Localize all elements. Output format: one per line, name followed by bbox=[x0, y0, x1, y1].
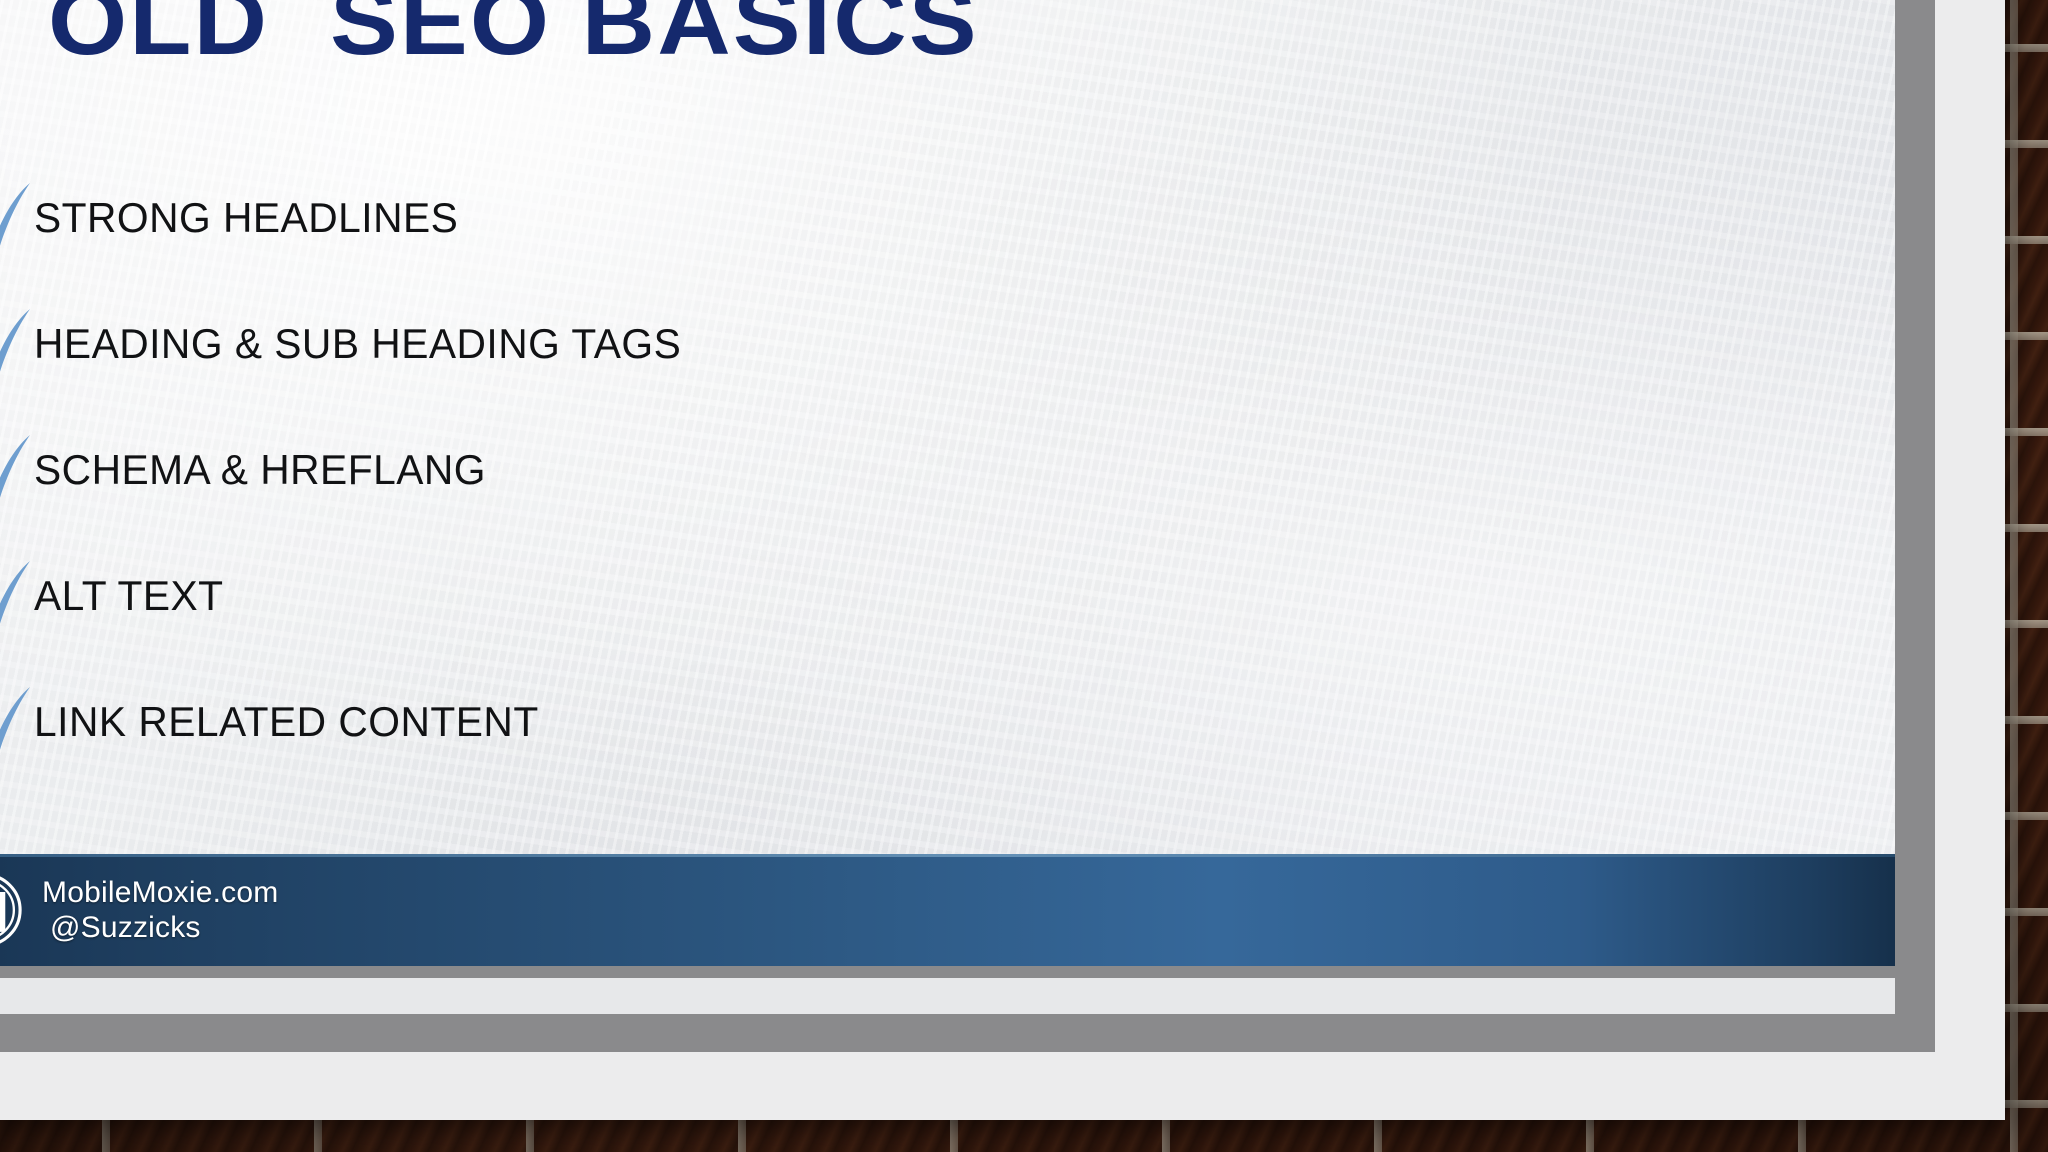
list-item-label: HEADING & SUB HEADING TAGS bbox=[34, 320, 681, 368]
check-icon bbox=[0, 306, 34, 384]
bullet-list: STRONG HEADLINES HEADING & SUB HEADING T… bbox=[0, 188, 1470, 818]
list-item: ALT TEXT bbox=[0, 566, 1470, 692]
footer-handle: @Suzzicks bbox=[42, 910, 278, 945]
slide-border-rule: OLD SEO BASICS STRONG HEADLINES HEADING bbox=[0, 0, 1935, 1052]
footer-branding: MobileMoxie.com @Suzzicks bbox=[0, 871, 278, 949]
list-item-label: LINK RELATED CONTENT bbox=[34, 698, 539, 746]
check-icon bbox=[0, 684, 34, 762]
list-item-label: SCHEMA & HREFLANG bbox=[34, 446, 486, 494]
slide-outer-matte: OLD SEO BASICS STRONG HEADLINES HEADING bbox=[0, 0, 2005, 1120]
check-icon bbox=[0, 558, 34, 636]
list-item-label: ALT TEXT bbox=[34, 572, 224, 620]
footer-website: MobileMoxie.com bbox=[42, 875, 278, 910]
mobilemoxie-m-logo-icon bbox=[0, 871, 24, 949]
list-item-label: STRONG HEADLINES bbox=[34, 194, 458, 242]
slide-title: OLD SEO BASICS bbox=[48, 0, 979, 73]
slide-bottom-matte bbox=[0, 978, 1895, 1014]
list-item: HEADING & SUB HEADING TAGS bbox=[0, 314, 1470, 440]
list-item: SCHEMA & HREFLANG bbox=[0, 440, 1470, 566]
footer-bar: MobileMoxie.com @Suzzicks bbox=[0, 854, 1895, 966]
screenshot-stage: OLD SEO BASICS STRONG HEADLINES HEADING bbox=[0, 0, 2048, 1152]
check-icon bbox=[0, 180, 34, 258]
check-icon bbox=[0, 432, 34, 510]
slide-bottom-rule bbox=[0, 966, 1895, 978]
list-item: LINK RELATED CONTENT bbox=[0, 692, 1470, 818]
footer-text-block: MobileMoxie.com @Suzzicks bbox=[42, 875, 278, 946]
slide-canvas: OLD SEO BASICS STRONG HEADLINES HEADING bbox=[0, 0, 1895, 1014]
footer-top-highlight bbox=[0, 854, 1895, 857]
list-item: STRONG HEADLINES bbox=[0, 188, 1470, 314]
